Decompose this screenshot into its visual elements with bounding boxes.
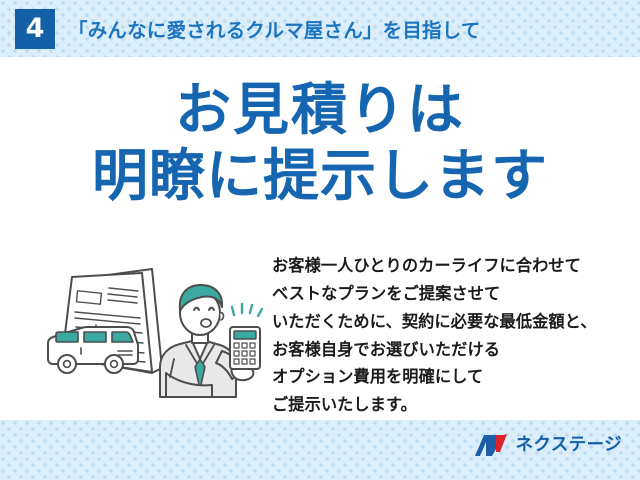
header-bar: 4 「みんなに愛されるクルマ屋さん」を目指して — [0, 0, 640, 57]
headline-line-2: 明瞭に提示します — [0, 145, 640, 207]
body-copy: お客様一人ひとりのカーライフに合わせて ベストなプランをご提案させて いただくた… — [272, 253, 632, 420]
illustration — [34, 255, 266, 415]
n-mark-icon — [474, 433, 508, 457]
brand-logo: ネクステージ — [474, 433, 622, 457]
page-title: お見積りは 明瞭に提示します — [0, 79, 640, 206]
body-copy-line: お客様自身でお選びいただける — [272, 337, 632, 365]
body-copy-line: お客様一人ひとりのカーライフに合わせて — [272, 253, 632, 281]
section-number-badge: 4 — [15, 9, 55, 49]
sparkle-icon — [232, 304, 262, 316]
body-copy-line: ベストなプランをご提案させて — [272, 281, 632, 309]
header-title: 「みんなに愛されるクルマ屋さん」を目指して — [68, 14, 481, 43]
body-copy-line: ご提示いたします。 — [272, 392, 632, 420]
brand-name: ネクステージ — [515, 436, 622, 454]
headline-line-1: お見積りは — [0, 79, 640, 141]
body-copy-line: オプション費用を明確にして — [272, 364, 632, 392]
header-content: 4 「みんなに愛されるクルマ屋さん」を目指して — [0, 0, 640, 57]
calculator — [230, 327, 260, 369]
body-copy-line: いただくために、契約に必要な最低金額と、 — [272, 309, 632, 337]
footer-bar: ネクステージ — [0, 420, 640, 480]
promo-banner: 4 「みんなに愛されるクルマ屋さん」を目指して お見積りは 明瞭に提示します お… — [0, 0, 640, 480]
main-content: お見積りは 明瞭に提示します お客様一人ひとりのカーライフに合わせて ベストなプ… — [0, 57, 640, 420]
